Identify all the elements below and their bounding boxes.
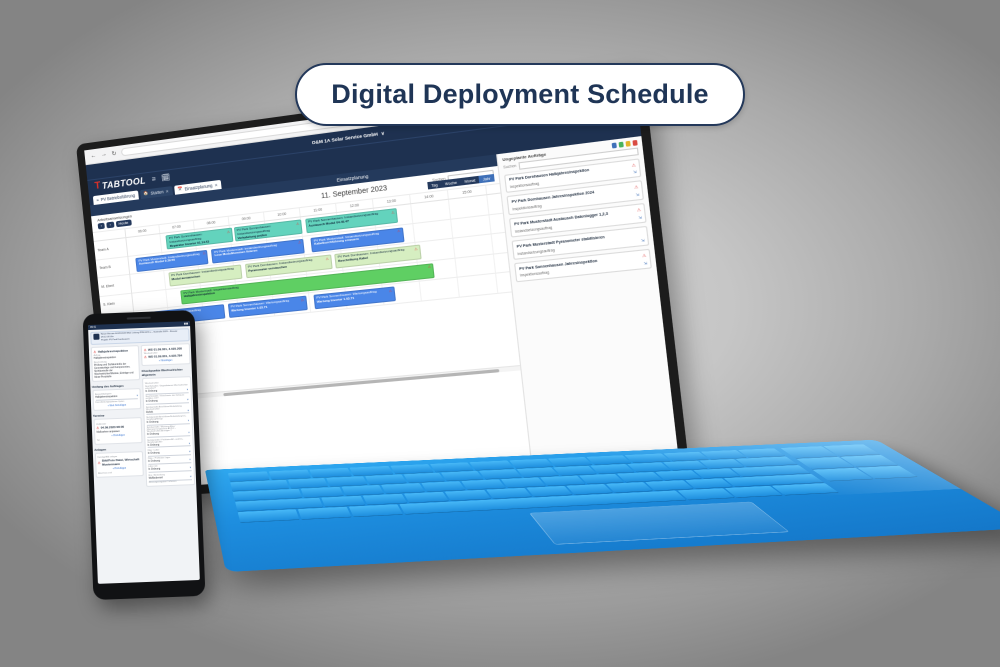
field-value: Prüfung und Sichtkontrolle der Generator… <box>94 362 137 379</box>
keyboard-key[interactable] <box>404 492 449 503</box>
inverter-field-row[interactable]: ⚠ WS 01.09.001, 4.035.784 <box>144 353 187 359</box>
order-heading-label: Halbjahresinspektion <box>98 348 128 353</box>
date-sub: Maßnahme anpassen <box>97 430 140 435</box>
checklist-item[interactable]: Filter / LüfterIn Ordnung▾ <box>148 448 191 456</box>
keyboard-key[interactable] <box>382 483 425 493</box>
drag-handle-icon[interactable]: ⇲ <box>638 216 642 221</box>
keyboard-key[interactable] <box>678 488 734 499</box>
checklist-item-value: Defekt <box>146 410 153 413</box>
calendar-icon: 📅 <box>177 186 183 193</box>
calendar-check-icon[interactable]: 🗓 <box>161 173 171 182</box>
chevron-down-icon: ▾ <box>189 458 190 461</box>
scope-hint: Dienstleistungsoptionen Option <box>95 401 138 405</box>
filter-yellow-icon[interactable] <box>625 141 631 147</box>
warning-icon: ⚠ <box>144 355 147 359</box>
attach-row[interactable]: ⚠ Bild/Foto Datei, Wirtschaft Mustermann <box>98 458 141 468</box>
checklist-item-select[interactable]: In Ordnung▾ <box>148 467 191 473</box>
checklist-item-select[interactable]: In Ordnung▾ <box>148 450 191 456</box>
keyboard-key[interactable] <box>590 464 633 474</box>
checklist-item[interactable]: Lüfter reinIn Ordnung▾ <box>148 465 191 473</box>
warning-icon: ⚠ <box>388 288 392 293</box>
scope-add-button[interactable]: + Wert hinzufügen <box>96 405 139 409</box>
keyboard-key[interactable] <box>237 510 299 523</box>
notification-title: Neuer Einsatz 04.09.2023 Wtd. Leitung ZP… <box>101 331 178 339</box>
warning-icon: ⚠ <box>634 184 639 190</box>
org-caret-icon[interactable]: ∨ <box>381 130 385 137</box>
warning-icon: ⚠ <box>428 265 432 270</box>
inverter-field-value: WS 01.09.001, 4.035.784 <box>148 354 182 359</box>
keyboard-key[interactable] <box>540 476 585 486</box>
calendar-event[interactable]: PV Park Sonnenhausen: Instandsetzungsauf… <box>233 219 302 241</box>
checklist-items: Sind Schäden / Degradationen Wechselrich… <box>145 384 191 481</box>
checklist-item-value: In Ordnung <box>146 420 158 423</box>
chevron-down-icon: ▾ <box>190 467 191 470</box>
checklist-item-value: In Ordnung <box>148 451 160 454</box>
footer-label: Abschluss und <box>98 471 141 475</box>
warning-icon: ⚠ <box>227 229 231 234</box>
page-header-label: Einsatzplanung <box>336 174 368 183</box>
checklist-item-select[interactable]: In Ordnung▾ <box>147 442 190 448</box>
menu-icon: ≡ <box>96 197 99 202</box>
keyboard-key[interactable] <box>288 478 329 488</box>
filter-blue-icon[interactable] <box>611 143 617 149</box>
checklist-item-select[interactable]: In Ordnung▾ <box>146 399 189 405</box>
warning-icon: ⚠ <box>296 221 300 226</box>
keyboard-key[interactable] <box>479 469 521 479</box>
chevron-down-icon: ▾ <box>188 409 189 412</box>
drag-handle-icon[interactable]: ⇲ <box>643 261 647 266</box>
warning-icon: ⚠ <box>631 162 636 168</box>
calendar-event[interactable]: PV Park Sonnenhausen: WartungsauftragWar… <box>313 286 395 309</box>
checklist-footer: Messungseingaben / erfassen <box>149 480 192 484</box>
checklist-item[interactable]: Sichtkontrolle / Messung Blitz-/ Überspa… <box>147 426 190 438</box>
calendar-event[interactable]: PV Park Sonnenhausen: WartungsauftragWar… <box>227 296 307 318</box>
keyboard-key[interactable] <box>617 472 663 482</box>
calendar-event[interactable]: PV Park Dornhausen: Instandsetzungsauftr… <box>168 264 243 286</box>
view-jahr-button[interactable]: Jahr <box>479 174 495 183</box>
keyboard-key[interactable] <box>321 496 365 507</box>
tab-label: Einsatzplanung <box>184 183 212 192</box>
warning-icon: ⚠ <box>300 297 304 302</box>
checklist-item-value: In Ordnung <box>147 443 159 446</box>
scope-card: Auswahlkategorie Halbjahresinspektion ▾ … <box>92 388 142 412</box>
checklist-item-select[interactable]: In Ordnung▾ <box>148 458 191 464</box>
checklist-item-value: In Ordnung <box>148 468 160 471</box>
keyboard-key[interactable] <box>606 482 653 492</box>
keyboard-key[interactable] <box>501 478 546 488</box>
order-summary-card: ⚠ Halbjahresinspektion Auftrag Halbjahre… <box>90 345 140 382</box>
keyboard-key[interactable] <box>403 473 445 483</box>
warning-icon: ⚠ <box>642 252 647 258</box>
laptop-device: ← → ↻ O&M 1A Solar Service GmbH ∨ 🔔 📅 👤 … <box>95 140 925 640</box>
checklist-item-select[interactable]: In Ordnung▾ <box>147 431 190 437</box>
inverter-add-button[interactable]: + Hinzufügen <box>144 359 187 363</box>
checklist-item-value: Wt/Bedienteil <box>149 476 163 480</box>
checklist-item[interactable]: Sichtkontrolle Anschlüsse/Verkabelung DC… <box>146 415 189 425</box>
phone-clock: 09:41 <box>90 326 96 329</box>
phone-battery-icon: ▮▮▮ <box>184 322 188 325</box>
drag-handle-icon[interactable]: ⇲ <box>641 238 645 243</box>
warning-icon: ⚠ <box>298 240 302 245</box>
keyboard-key[interactable] <box>422 481 466 491</box>
phone-left-column: ⚠ Halbjahresinspektion Auftrag Halbjahre… <box>90 345 144 491</box>
keyboard-key[interactable] <box>567 484 614 495</box>
chevron-down-icon: ▾ <box>137 394 138 397</box>
keyboard-key[interactable] <box>445 490 490 501</box>
checklist-item[interactable]: Filter- / Prüfstatus LagerIn Ordnung▾ <box>148 456 191 464</box>
filter-red-icon[interactable] <box>632 140 638 146</box>
keyboard-key[interactable] <box>365 475 406 485</box>
chevron-down-icon: ▾ <box>189 450 190 453</box>
keyboard-key[interactable] <box>326 476 367 486</box>
page-title-banner: Digital Deployment Schedule <box>295 63 745 126</box>
attachments-card: Dateityp/Bild anlegen ⚠ Bild/Foto Datei,… <box>94 451 144 478</box>
filter-green-icon[interactable] <box>618 142 624 148</box>
checklist-item-value: In Ordnung <box>147 433 159 436</box>
keyboard-key[interactable] <box>516 468 559 478</box>
warning-icon: ⚠ <box>202 251 206 256</box>
checklist-item-value: In Ordnung <box>148 460 160 463</box>
keyboard-key[interactable] <box>341 485 384 496</box>
warning-icon: ⚠ <box>414 246 418 251</box>
keyboard-key[interactable] <box>441 471 483 481</box>
scope-select[interactable]: Halbjahresinspektion ▾ <box>95 394 138 400</box>
warning-icon: ⚠ <box>637 207 642 213</box>
keyboard-key[interactable] <box>461 479 505 489</box>
warning-icon: ⚠ <box>325 256 329 261</box>
calendar-event[interactable]: PV Park Sonnenhausen: Instandsetzungsauf… <box>166 228 233 250</box>
dates-card: Zeitfenster ⚠ 04.09.2023 08:00 Maßnahme … <box>93 417 143 444</box>
tab-label: Starten <box>150 189 163 196</box>
chevron-down-icon: ▾ <box>187 388 188 391</box>
inverter-card: ⚠ WS 01.09.001, 4.035.208 Wechselrichter… <box>141 343 191 366</box>
keyboard-key[interactable] <box>349 505 403 517</box>
view-woche-button[interactable]: Woche <box>441 178 461 188</box>
inverter-heading-label: WS 01.09.001, 4.035.208 <box>148 346 182 351</box>
home-icon: 🏠 <box>143 190 149 197</box>
notification-text: Neuer Einsatz 04.09.2023 Wtd. Leitung ZP… <box>101 330 186 342</box>
warning-icon: ⚠ <box>96 426 99 430</box>
phone-screen: 09:41 ▮▮▮ Neuer Einsatz 04.09.2023 Wtd. … <box>88 321 200 584</box>
keyboard-key[interactable] <box>646 480 693 490</box>
date-value: 04.09.2023 08:00 <box>101 425 125 430</box>
chevron-down-icon: ▾ <box>189 442 190 445</box>
app-badge-icon <box>93 334 99 340</box>
reload-icon[interactable]: ↻ <box>111 150 117 158</box>
checklist-item[interactable]: Sichtkontrolle / Prüfstatus AC- und DC-V… <box>147 438 190 448</box>
phone-device: 09:41 ▮▮▮ Neuer Einsatz 04.09.2023 Wtd. … <box>83 310 206 600</box>
warning-icon: ⚠ <box>144 347 147 351</box>
view-tag-button[interactable]: Tag <box>427 181 441 190</box>
unplanned-order-list: PV Park Dornhausen HalbjahresinspektionI… <box>504 158 652 282</box>
keyboard-key[interactable] <box>553 466 596 476</box>
view-monat-button[interactable]: Monat <box>460 176 479 185</box>
keyboard-key[interactable] <box>301 487 344 498</box>
warning-icon: ⚠ <box>93 349 96 353</box>
unplanned-orders-panel: Ungeplante Aufträge Suchen PV Park Dornh… <box>496 136 678 461</box>
checklist-item[interactable]: Sichtkontrolle Anschlüsse/Verkabelung We… <box>146 405 189 415</box>
phone-content: ⚠ Halbjahresinspektion Auftrag Halbjahre… <box>89 343 196 491</box>
checklist-item[interactable]: Sind Schäden / Degradationen Wechselrich… <box>145 384 188 394</box>
keyboard-key[interactable] <box>725 486 782 497</box>
warning-icon: ⚠ <box>98 461 101 465</box>
page-title: Digital Deployment Schedule <box>331 79 708 110</box>
close-icon[interactable]: ✕ <box>214 182 218 187</box>
chevron-down-icon: ▾ <box>187 399 188 402</box>
warning-icon: ⚠ <box>391 210 395 215</box>
checklist-item-select[interactable]: Defekt▾ <box>146 409 189 415</box>
checklist-card: Wechselrichter Sind Schäden / Degradatio… <box>142 376 195 486</box>
keyboard-key[interactable] <box>526 486 572 497</box>
keyboard-key[interactable] <box>486 488 532 499</box>
keyboard-key[interactable] <box>579 474 624 484</box>
checklist-item-select[interactable]: In Ordnung▾ <box>146 419 189 425</box>
back-arrow-icon[interactable]: ← <box>90 153 96 160</box>
chevron-down-icon: ▾ <box>188 419 189 422</box>
checklist-item-value: In Ordnung <box>145 390 157 393</box>
drag-handle-icon[interactable]: ⇲ <box>633 170 637 175</box>
list-icon[interactable]: ≡ <box>151 176 156 183</box>
panel-search-label: Suchen <box>503 164 517 170</box>
chevron-down-icon: ▾ <box>188 431 189 434</box>
warning-icon: ⚠ <box>397 229 401 234</box>
keyboard-key[interactable] <box>772 483 837 494</box>
scope-value: Halbjahresinspektion <box>95 395 117 399</box>
phone-right-column: ⚠ WS 01.09.001, 4.035.208 Wechselrichter… <box>141 343 195 489</box>
notification-subtitle: Projekt: PV Park Dornhausen <box>101 338 130 341</box>
checklist-item-value: In Ordnung <box>146 400 158 403</box>
keyboard-key[interactable] <box>363 494 408 505</box>
drag-handle-icon[interactable]: ⇲ <box>636 193 640 198</box>
trackpad[interactable] <box>529 501 789 544</box>
note-label: Tel. <box>97 438 140 442</box>
attach-value: Bild/Foto Datei, Wirtschaft Mustermann <box>102 458 141 467</box>
close-icon[interactable]: ✕ <box>165 188 169 193</box>
checklist-item[interactable]: Sind Schäden / Verschmutz. der Gehäuse s… <box>145 395 188 405</box>
chevron-down-icon: ▾ <box>190 475 191 478</box>
forward-arrow-icon[interactable]: → <box>101 151 107 158</box>
tabtool-mark-icon: T <box>94 181 101 192</box>
keyboard-key[interactable] <box>298 507 351 519</box>
